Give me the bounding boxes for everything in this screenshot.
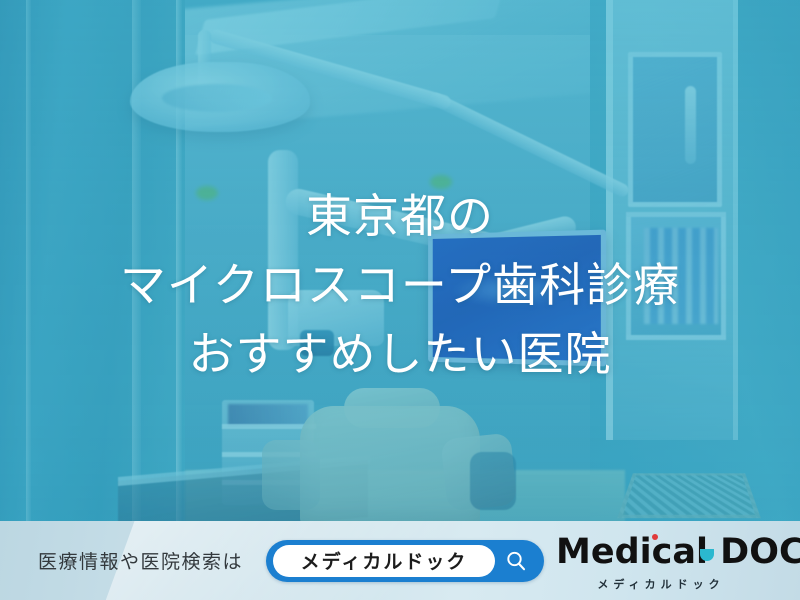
bottom-bar: 医療情報や医院検索は メディカルドック Medical DOC メディカルドック	[0, 521, 800, 600]
brand-name: Medical DOC	[556, 535, 800, 570]
search-icon[interactable]	[504, 549, 528, 573]
page-title: 東京都の マイクロスコープ歯科診療 おすすめしたい医院	[0, 182, 800, 389]
brand-logo: Medical DOC メディカルドック	[556, 535, 766, 592]
headline-line-2: マイクロスコープ歯科診療	[0, 251, 800, 320]
brand-accent-dot-icon	[652, 534, 658, 540]
brand-name-text: Medical DOC	[556, 532, 800, 572]
search-input-text: メディカルドック	[301, 547, 468, 574]
search-button[interactable]: メディカルドック	[266, 540, 544, 582]
hero-banner: 東京都の マイクロスコープ歯科診療 おすすめしたい医院 医療情報や医院検索は メ…	[0, 0, 800, 600]
search-prompt-label: 医療情報や医院検索は	[38, 547, 243, 574]
headline-line-1: 東京都の	[0, 182, 800, 251]
brand-kana: メディカルドック	[556, 576, 766, 592]
headline-line-3: おすすめしたい医院	[0, 320, 800, 389]
search-input[interactable]: メディカルドック	[273, 545, 495, 577]
